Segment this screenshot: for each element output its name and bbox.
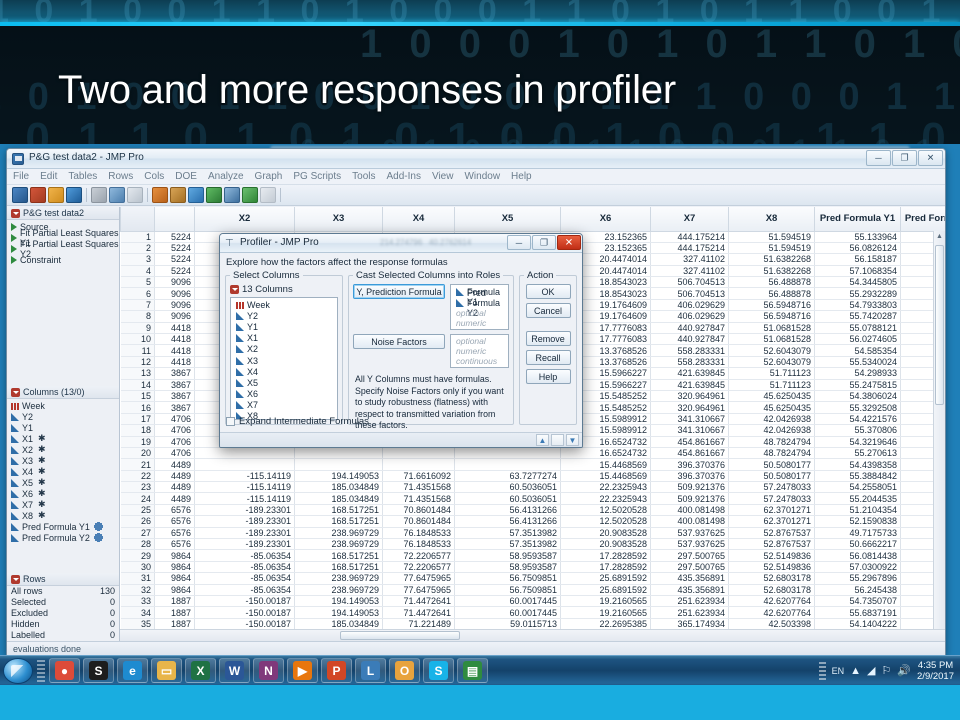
table-cell[interactable]: 55.2932289 xyxy=(815,288,901,299)
table-cell[interactable]: 45.6250435 xyxy=(729,402,815,413)
table-cell[interactable]: 50.6662217 xyxy=(815,539,901,550)
menu-file[interactable]: File xyxy=(13,171,29,182)
expand-intermediate-formulas-checkbox[interactable] xyxy=(226,417,235,426)
dialog-close-button[interactable]: ✕ xyxy=(557,235,581,250)
vertical-scrollbar[interactable]: ▲ ▼ xyxy=(933,231,945,641)
home-icon[interactable]: ▲ xyxy=(536,434,549,446)
table-cell[interactable]: 440.927847 xyxy=(651,334,729,345)
table-cell[interactable]: 3867 xyxy=(155,390,195,401)
table-cell[interactable]: 13 xyxy=(121,368,155,379)
table-cell[interactable]: 56.0274605 xyxy=(815,334,901,345)
help-button[interactable]: Help xyxy=(526,369,571,384)
print-icon[interactable] xyxy=(152,187,168,203)
table-cell[interactable]: 185.034849 xyxy=(295,482,383,493)
table-cell[interactable]: 444.175214 xyxy=(651,231,729,242)
dialog-restore-button[interactable]: ❐ xyxy=(532,235,556,250)
jmp-toolbar[interactable] xyxy=(7,185,945,206)
table-cell[interactable]: 52.6043079 xyxy=(729,345,815,356)
table-cell[interactable]: 4418 xyxy=(155,345,195,356)
onenote-icon[interactable]: N xyxy=(253,658,284,683)
table-cell[interactable]: 26 xyxy=(121,516,155,527)
table-cell[interactable]: 406.029629 xyxy=(651,311,729,322)
table-cell[interactable]: 52.6043079 xyxy=(729,356,815,367)
powerpoint-icon[interactable]: P xyxy=(321,658,352,683)
table-cell[interactable]: 320.964961 xyxy=(651,390,729,401)
table-cell[interactable]: 558.283331 xyxy=(651,356,729,367)
table-row[interactable]: 329864-85.06354238.96972977.647596556.75… xyxy=(121,584,946,595)
noise-factors-button[interactable]: Noise Factors xyxy=(353,334,445,349)
table-cell[interactable]: 42.6207764 xyxy=(729,607,815,618)
table-row[interactable]: 309864-85.06354168.51725172.220657758.95… xyxy=(121,561,946,572)
menu-window[interactable]: Window xyxy=(464,171,500,182)
table-cell[interactable]: 54.4398358 xyxy=(815,459,901,470)
table-cell[interactable]: 16 xyxy=(121,402,155,413)
column-header-pred-formula-y2[interactable]: Pred Formula Y2 xyxy=(901,207,946,231)
table-cell[interactable]: 56.5948716 xyxy=(729,311,815,322)
table-cell[interactable]: 6 xyxy=(121,288,155,299)
table-cell[interactable]: 59.0115713 xyxy=(455,618,561,629)
action-center-icon[interactable]: ⚐ xyxy=(881,664,891,677)
table-cell[interactable]: 22.2325943 xyxy=(561,493,651,504)
disclosure-triangle-icon[interactable] xyxy=(11,388,20,397)
table-cell[interactable]: 16.6524732 xyxy=(561,447,651,458)
table-cell[interactable]: 54.7933803 xyxy=(815,299,901,310)
table-cell[interactable]: 185.034849 xyxy=(295,493,383,504)
table-cell[interactable]: 454.861667 xyxy=(651,447,729,458)
table-cell[interactable]: -150.00187 xyxy=(195,607,295,618)
table-cell[interactable]: 27 xyxy=(121,527,155,538)
select-columns-listbox[interactable]: WeekY2Y1X1X2X3X4X5X6X7X8Pred Formula Y1P… xyxy=(230,297,338,420)
table-cell[interactable]: 55.3292508 xyxy=(815,402,901,413)
menu-graph[interactable]: Graph xyxy=(255,171,283,182)
table-cell[interactable]: 9096 xyxy=(155,288,195,299)
table-cell[interactable]: 2 xyxy=(121,242,155,253)
internet-explorer-icon[interactable]: e xyxy=(117,658,148,683)
table-cell[interactable]: 9 xyxy=(121,322,155,333)
table-cell[interactable]: 11 xyxy=(121,345,155,356)
table-cell[interactable]: 365.174934 xyxy=(651,618,729,629)
table-cell[interactable]: 327.41102 xyxy=(651,254,729,265)
table-cell[interactable]: 238.969729 xyxy=(295,573,383,584)
menu-analyze[interactable]: Analyze xyxy=(208,171,244,182)
table-cell[interactable]: 31 xyxy=(121,573,155,584)
table-cell[interactable]: 194.149053 xyxy=(295,607,383,618)
table-cell[interactable]: 28 xyxy=(121,539,155,550)
table-cell[interactable]: 9096 xyxy=(155,299,195,310)
rows-panel-header[interactable]: Rows xyxy=(7,573,119,586)
table-cell[interactable]: 52.8767537 xyxy=(729,527,815,538)
table-row[interactable]: 319864-85.06354238.96972977.647596556.75… xyxy=(121,573,946,584)
table-cell[interactable]: 444.175214 xyxy=(651,242,729,253)
scroll-up-arrow[interactable]: ▲ xyxy=(935,233,944,242)
table-cell[interactable]: 194.149053 xyxy=(295,470,383,481)
table-cell[interactable] xyxy=(383,447,455,458)
table-cell[interactable]: 15 xyxy=(121,390,155,401)
table-cell[interactable]: 57.2478033 xyxy=(729,482,815,493)
table-cell[interactable]: -189.23301 xyxy=(195,527,295,538)
column-header-x7[interactable]: X7 xyxy=(651,207,729,231)
table-cell[interactable]: 70.8601484 xyxy=(383,516,455,527)
columns-panel-header[interactable]: Columns (13/0) xyxy=(7,386,119,399)
jmp-icon[interactable]: ▤ xyxy=(457,658,488,683)
table-cell[interactable]: 51.2104354 xyxy=(815,504,901,515)
table-cell[interactable]: 7 xyxy=(121,299,155,310)
table-cell[interactable]: 5 xyxy=(121,277,155,288)
table-cell[interactable] xyxy=(295,459,383,470)
table-cell[interactable]: 194.149053 xyxy=(295,596,383,607)
table-cell[interactable]: 251.623934 xyxy=(651,596,729,607)
disclosure-triangle-icon[interactable] xyxy=(11,209,20,218)
table-cell[interactable]: 5224 xyxy=(155,242,195,253)
select-columns-item[interactable]: X6 xyxy=(234,389,337,400)
table-cell[interactable]: 341.310667 xyxy=(651,425,729,436)
table-cell[interactable]: 48.7824794 xyxy=(729,436,815,447)
table-cell[interactable]: 4418 xyxy=(155,334,195,345)
ok-button[interactable]: OK xyxy=(526,284,571,299)
table-cell[interactable]: 60.5036051 xyxy=(455,482,561,493)
table-cell[interactable]: -115.14119 xyxy=(195,482,295,493)
table-cell[interactable]: 168.517251 xyxy=(295,550,383,561)
table-cell[interactable]: 77.6475965 xyxy=(383,573,455,584)
table-cell[interactable]: 33 xyxy=(121,596,155,607)
table-cell[interactable]: 71.4351568 xyxy=(383,482,455,493)
table-cell[interactable]: 17.2828592 xyxy=(561,561,651,572)
table-cell[interactable]: 72.2206577 xyxy=(383,561,455,572)
table-cell[interactable]: 51.711123 xyxy=(729,379,815,390)
table-cell[interactable]: 1887 xyxy=(155,596,195,607)
table-cell[interactable]: 21 xyxy=(121,459,155,470)
table-cell[interactable]: 42.0426938 xyxy=(729,413,815,424)
taskbar-clock[interactable]: 4:35 PM 2/9/2017 xyxy=(917,660,954,682)
table-cell[interactable]: -189.23301 xyxy=(195,539,295,550)
table-cell[interactable] xyxy=(295,447,383,458)
column-header-x5[interactable]: X5 xyxy=(455,207,561,231)
table-cell[interactable]: 396.370376 xyxy=(651,459,729,470)
table-cell[interactable]: 56.7509851 xyxy=(455,573,561,584)
table-cell[interactable]: 55.5340024 xyxy=(815,356,901,367)
table-cell[interactable]: 4706 xyxy=(155,413,195,424)
table-cell[interactable]: 54.7350707 xyxy=(815,596,901,607)
file-explorer-icon[interactable]: ▭ xyxy=(151,658,182,683)
table-cell[interactable]: 54.298933 xyxy=(815,368,901,379)
table-cell[interactable]: 50.5080177 xyxy=(729,459,815,470)
table-cell[interactable] xyxy=(455,459,561,470)
table-cell[interactable]: 168.517251 xyxy=(295,504,383,515)
table-cell[interactable]: -85.06354 xyxy=(195,573,295,584)
table-cell[interactable]: 6576 xyxy=(155,504,195,515)
table-cell[interactable]: 509.921376 xyxy=(651,493,729,504)
horizontal-scrollbar[interactable] xyxy=(120,629,945,641)
table-cell[interactable]: 49.7175733 xyxy=(815,527,901,538)
table-cell[interactable]: 15.4468569 xyxy=(561,459,651,470)
table-cell[interactable]: -150.00187 xyxy=(195,618,295,629)
table-cell[interactable]: 56.4131266 xyxy=(455,504,561,515)
taskbar-app-list[interactable]: ●Se▭XWN▶PLOS▤ xyxy=(49,658,491,683)
menu-add-ins[interactable]: Add-Ins xyxy=(387,171,421,182)
table-cell[interactable]: 17.2828592 xyxy=(561,550,651,561)
table-row[interactable]: 20470616.6524732454.86166748.782479455.2… xyxy=(121,447,946,458)
table-row[interactable]: 341887-150.00187194.14905371.447264160.0… xyxy=(121,607,946,618)
table-cell[interactable]: -115.14119 xyxy=(195,470,295,481)
table-cell[interactable]: 20.9083528 xyxy=(561,527,651,538)
table-cell[interactable]: 54.585354 xyxy=(815,345,901,356)
table-cell[interactable]: 12.5020528 xyxy=(561,504,651,515)
table-cell[interactable]: 71.6616092 xyxy=(383,470,455,481)
table-cell[interactable]: 537.937625 xyxy=(651,539,729,550)
table-cell[interactable]: 58.9593587 xyxy=(455,550,561,561)
column-header-x6[interactable]: X6 xyxy=(561,207,651,231)
list-item[interactable]: Fit Partial Least Squares Y2 xyxy=(11,243,119,254)
table-cell[interactable]: 9864 xyxy=(155,573,195,584)
chrome-icon[interactable]: ● xyxy=(49,658,80,683)
table-row[interactable]: 244489-115.14119185.03484971.435156860.5… xyxy=(121,493,946,504)
menu-view[interactable]: View xyxy=(432,171,454,182)
table-cell[interactable]: 8 xyxy=(121,311,155,322)
table-cell[interactable]: 55.6837191 xyxy=(815,607,901,618)
close-button[interactable]: ✕ xyxy=(918,150,943,166)
table-cell[interactable]: 35 xyxy=(121,618,155,629)
disclosure-triangle-icon[interactable] xyxy=(11,575,20,584)
table-cell[interactable]: 51.6382268 xyxy=(729,254,815,265)
table-cell[interactable]: 56.0826124 xyxy=(815,242,901,253)
table-cell[interactable]: 52.6803178 xyxy=(729,584,815,595)
table-cell[interactable]: 320.964961 xyxy=(651,402,729,413)
word-icon[interactable]: W xyxy=(219,658,250,683)
table-cell[interactable]: 18 xyxy=(121,425,155,436)
table-cell[interactable]: 22.2325943 xyxy=(561,482,651,493)
jmp-menu-bar[interactable]: File Edit Tables Rows Cols DOE Analyze G… xyxy=(7,169,945,185)
table-cell[interactable]: 71.4472641 xyxy=(383,596,455,607)
table-cell[interactable]: 537.937625 xyxy=(651,527,729,538)
table-cell[interactable]: 454.861667 xyxy=(651,436,729,447)
table-cell[interactable]: 4706 xyxy=(155,425,195,436)
table-cell[interactable]: 421.639845 xyxy=(651,368,729,379)
table-cell[interactable]: 57.2478033 xyxy=(729,493,815,504)
copy-icon[interactable] xyxy=(109,187,125,203)
select-columns-item[interactable]: X7 xyxy=(234,400,337,411)
table-cell[interactable]: 57.3513982 xyxy=(455,527,561,538)
table-cell[interactable]: 20.9083528 xyxy=(561,539,651,550)
select-columns-item[interactable]: X3 xyxy=(234,355,337,366)
noise-role-box[interactable]: optional numeric continuous xyxy=(450,334,509,368)
media-player-icon[interactable]: ▶ xyxy=(287,658,318,683)
list-item[interactable]: Pred Formula Y2 xyxy=(11,532,119,543)
windows-taskbar[interactable]: ●Se▭XWN▶PLOS▤ EN ▲ ◢ ⚐ 🔊 4:35 PM 2/9/201… xyxy=(0,655,960,685)
list-item[interactable]: Pred Formula Y1 xyxy=(11,521,119,532)
table-cell[interactable]: -85.06354 xyxy=(195,550,295,561)
table-cell[interactable]: 57.3513982 xyxy=(455,539,561,550)
table-cell[interactable]: 6576 xyxy=(155,527,195,538)
list-item[interactable]: X4✱ xyxy=(11,466,119,477)
role-item[interactable]: Pred Formula Y2 xyxy=(454,297,508,308)
table-cell[interactable]: 34 xyxy=(121,607,155,618)
table-cell[interactable]: 3867 xyxy=(155,368,195,379)
table-cell[interactable]: 57.1068354 xyxy=(815,265,901,276)
table-cell[interactable]: 23 xyxy=(121,482,155,493)
table-cell[interactable]: 406.029629 xyxy=(651,299,729,310)
table-cell[interactable]: 56.158187 xyxy=(815,254,901,265)
menu-tables[interactable]: Tables xyxy=(68,171,97,182)
table-cell[interactable] xyxy=(195,447,295,458)
table-cell[interactable]: 51.0681528 xyxy=(729,334,815,345)
table-cell[interactable]: 42.0426938 xyxy=(729,425,815,436)
list-item[interactable]: Week xyxy=(11,400,119,411)
table-cell[interactable]: 29 xyxy=(121,550,155,561)
table-cell[interactable]: 54.3445805 xyxy=(815,277,901,288)
table-cell[interactable]: 238.969729 xyxy=(295,527,383,538)
menu-help[interactable]: Help xyxy=(511,171,532,182)
select-columns-item[interactable]: X2 xyxy=(234,344,337,355)
table-cell[interactable]: 4418 xyxy=(155,322,195,333)
table-cell[interactable]: 56.0814438 xyxy=(815,550,901,561)
table-row[interactable]: 21448915.4468569396.37037650.508017754.4… xyxy=(121,459,946,470)
table-cell[interactable]: 238.969729 xyxy=(295,539,383,550)
table-cell[interactable]: 251.623934 xyxy=(651,607,729,618)
table-cell[interactable]: 55.270613 xyxy=(815,447,901,458)
table-cell[interactable]: 4706 xyxy=(155,436,195,447)
table-panel-header[interactable]: P&G test data2 xyxy=(7,207,119,220)
table-cell[interactable]: 71.4351568 xyxy=(383,493,455,504)
table-cell[interactable]: 55.2967896 xyxy=(815,573,901,584)
table-cell[interactable]: -115.14119 xyxy=(195,493,295,504)
table-cell[interactable] xyxy=(383,459,455,470)
table-cell[interactable]: 55.370806 xyxy=(815,425,901,436)
dialog-minimize-button[interactable]: ─ xyxy=(507,235,531,250)
cancel-button[interactable]: Cancel xyxy=(526,303,571,318)
table-cell[interactable]: 54.2558051 xyxy=(815,482,901,493)
table-cell[interactable]: 400.081498 xyxy=(651,516,729,527)
outlook-icon[interactable]: O xyxy=(389,658,420,683)
table-cell[interactable]: 52.6803178 xyxy=(729,573,815,584)
paste-icon[interactable] xyxy=(127,187,143,203)
table-cell[interactable]: 42.6207764 xyxy=(729,596,815,607)
table-cell[interactable]: 4 xyxy=(121,265,155,276)
table-cell[interactable]: 52.5149836 xyxy=(729,550,815,561)
table-cell[interactable]: 1 xyxy=(121,231,155,242)
table-cell[interactable] xyxy=(455,447,561,458)
menu-edit[interactable]: Edit xyxy=(40,171,57,182)
list-item[interactable]: X7✱ xyxy=(11,499,119,510)
table-cell[interactable]: 55.2044535 xyxy=(815,493,901,504)
table-cell[interactable]: 60.0017445 xyxy=(455,607,561,618)
table-cell[interactable]: 25.6891592 xyxy=(561,584,651,595)
table-cell[interactable]: 9096 xyxy=(155,311,195,322)
table-cell[interactable]: 435.356891 xyxy=(651,573,729,584)
table-cell[interactable]: 297.500765 xyxy=(651,550,729,561)
save-icon[interactable] xyxy=(66,187,82,203)
table-cell[interactable]: 45.6250435 xyxy=(729,390,815,401)
table-cell[interactable]: 4706 xyxy=(155,447,195,458)
fit-model-icon[interactable] xyxy=(260,187,276,203)
tray-grip[interactable] xyxy=(819,662,826,680)
list-item[interactable]: Y2 xyxy=(11,411,119,422)
table-cell[interactable]: 506.704513 xyxy=(651,288,729,299)
table-row[interactable]: 299864-85.06354168.51725172.220657758.95… xyxy=(121,550,946,561)
fit-y-by-x-icon[interactable] xyxy=(242,187,258,203)
table-cell[interactable]: 6576 xyxy=(155,539,195,550)
table-cell[interactable]: 22 xyxy=(121,470,155,481)
table-cell[interactable]: 62.3701271 xyxy=(729,504,815,515)
select-columns-item[interactable]: Y2 xyxy=(234,310,337,321)
table-cell[interactable]: 19 xyxy=(121,436,155,447)
select-columns-item[interactable]: X1 xyxy=(234,333,337,344)
column-header-week[interactable]: Week xyxy=(155,207,195,231)
menu-tools[interactable]: Tools xyxy=(352,171,375,182)
table-cell[interactable]: 4489 xyxy=(155,459,195,470)
chevron-down-icon[interactable]: ▼ xyxy=(566,434,579,446)
restore-button[interactable]: ❐ xyxy=(892,150,917,166)
table-row[interactable]: 331887-150.00187194.14905371.447264160.0… xyxy=(121,596,946,607)
table-cell[interactable]: 48.7824794 xyxy=(729,447,815,458)
table-cell[interactable]: 54.3806024 xyxy=(815,390,901,401)
select-columns-item[interactable]: Week xyxy=(234,299,337,310)
table-cell[interactable]: 297.500765 xyxy=(651,561,729,572)
table-cell[interactable]: 70.8601484 xyxy=(383,504,455,515)
table-cell[interactable]: 55.133964 xyxy=(815,231,901,242)
table-row[interactable]: 351887-150.00187185.03484971.22148959.01… xyxy=(121,618,946,629)
table-cell[interactable]: 60.5036051 xyxy=(455,493,561,504)
table-cell[interactable]: 19.2160565 xyxy=(561,607,651,618)
column-header-blank[interactable] xyxy=(121,207,155,231)
table-cell[interactable]: 558.283331 xyxy=(651,345,729,356)
column-header-x8[interactable]: X8 xyxy=(729,207,815,231)
table-cell[interactable]: -85.06354 xyxy=(195,584,295,595)
table-row[interactable]: 224489-115.14119194.14905371.661609263.7… xyxy=(121,470,946,481)
table-cell[interactable]: 54.3219646 xyxy=(815,436,901,447)
columns-icon[interactable] xyxy=(206,187,222,203)
table-cell[interactable]: 54.1404222 xyxy=(815,618,901,629)
table-cell[interactable]: 58.9593587 xyxy=(455,561,561,572)
table-cell[interactable]: 3867 xyxy=(155,379,195,390)
table-cell[interactable]: 4489 xyxy=(155,470,195,481)
new-data-table-icon[interactable] xyxy=(12,187,28,203)
table-cell[interactable]: 509.921376 xyxy=(651,482,729,493)
table-cell[interactable]: 51.0681528 xyxy=(729,322,815,333)
table-cell[interactable]: 506.704513 xyxy=(651,277,729,288)
remove-button[interactable]: Remove xyxy=(526,331,571,346)
table-cell[interactable]: 9864 xyxy=(155,550,195,561)
table-cell[interactable]: -85.06354 xyxy=(195,561,295,572)
y-role-box[interactable]: Pred Formula Y1 Pred Formula Y2 optional… xyxy=(450,284,509,330)
expand-formulas-row[interactable]: Expand Intermediate Formulas xyxy=(226,416,369,427)
cut-icon[interactable] xyxy=(91,187,107,203)
column-header-pred-formula-y1[interactable]: Pred Formula Y1 xyxy=(815,207,901,231)
table-cell[interactable]: 9864 xyxy=(155,584,195,595)
list-item[interactable]: X2✱ xyxy=(11,444,119,455)
table-cell[interactable]: 1887 xyxy=(155,607,195,618)
table-cell[interactable]: 56.245438 xyxy=(815,584,901,595)
list-item[interactable]: X3✱ xyxy=(11,455,119,466)
table-cell[interactable]: 4489 xyxy=(155,482,195,493)
table-cell[interactable]: 396.370376 xyxy=(651,470,729,481)
menu-pg-scripts[interactable]: PG Scripts xyxy=(293,171,341,182)
table-row[interactable]: 276576-189.23301238.96972976.184853357.3… xyxy=(121,527,946,538)
table-cell[interactable]: 22.2695385 xyxy=(561,618,651,629)
table-cell[interactable]: 4489 xyxy=(155,493,195,504)
table-cell[interactable]: 5224 xyxy=(155,231,195,242)
distribution-icon[interactable] xyxy=(224,187,240,203)
table-cell[interactable]: 52.8767537 xyxy=(729,539,815,550)
table-cell[interactable]: 56.5948716 xyxy=(729,299,815,310)
table-cell[interactable]: 4418 xyxy=(155,356,195,367)
minimize-button[interactable]: ─ xyxy=(866,150,891,166)
disclosure-triangle-icon[interactable] xyxy=(230,285,239,294)
table-cell[interactable]: 30 xyxy=(121,561,155,572)
table-cell[interactable]: 32 xyxy=(121,584,155,595)
table-cell[interactable]: 72.2206577 xyxy=(383,550,455,561)
table-cell[interactable]: 12 xyxy=(121,356,155,367)
table-cell[interactable]: 63.7277274 xyxy=(455,470,561,481)
